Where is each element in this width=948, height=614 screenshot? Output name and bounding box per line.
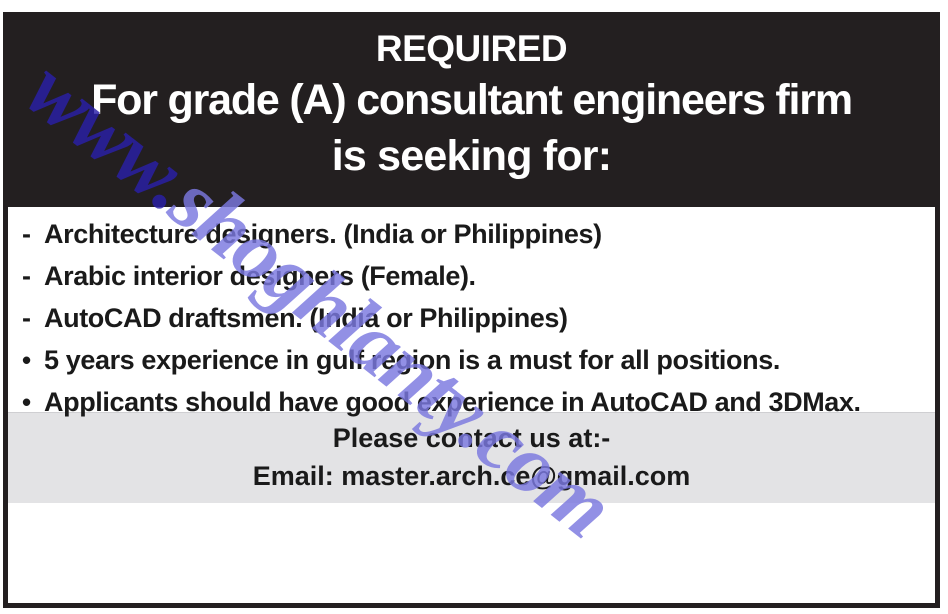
list-item: - Arabic interior designers (Female). (22, 255, 925, 297)
advertisement-footer: Please contact us at:- Email: master.arc… (8, 412, 935, 503)
list-item: • 5 years experience in gulf region is a… (22, 339, 925, 381)
list-item-text: Applicants should have good experience i… (44, 381, 925, 423)
list-item-text: Architecture designers. (India or Philip… (44, 213, 925, 255)
dash-marker-icon: - (22, 255, 44, 297)
header-title-required: REQUIRED (18, 21, 925, 71)
list-item: - AutoCAD draftsmen. (India or Philippin… (22, 297, 925, 339)
contact-prompt: Please contact us at:- (18, 419, 925, 457)
advertisement-page: REQUIRED For grade (A) consultant engine… (0, 0, 948, 614)
dash-marker-icon: - (22, 213, 44, 255)
contact-email: Email: master.arch.ce@gmail.com (18, 457, 925, 495)
bullet-marker-icon: • (22, 339, 44, 381)
list-item: • Applicants should have good experience… (22, 381, 925, 423)
header-subtitle-company: For grade (A) consultant engineers firm (18, 71, 925, 129)
list-item-text: 5 years experience in gulf region is a m… (44, 339, 925, 381)
list-item-text: AutoCAD draftsmen. (India or Philippines… (44, 297, 925, 339)
advertisement-frame: REQUIRED For grade (A) consultant engine… (3, 12, 940, 608)
header-subtitle-seeking: is seeking for: (18, 129, 925, 183)
dash-marker-icon: - (22, 297, 44, 339)
list-item: - Architecture designers. (India or Phil… (22, 213, 925, 255)
list-item-text: Arabic interior designers (Female). (44, 255, 925, 297)
bullet-marker-icon: • (22, 381, 44, 423)
advertisement-body: - Architecture designers. (India or Phil… (8, 207, 935, 412)
advertisement-header: REQUIRED For grade (A) consultant engine… (8, 17, 935, 207)
